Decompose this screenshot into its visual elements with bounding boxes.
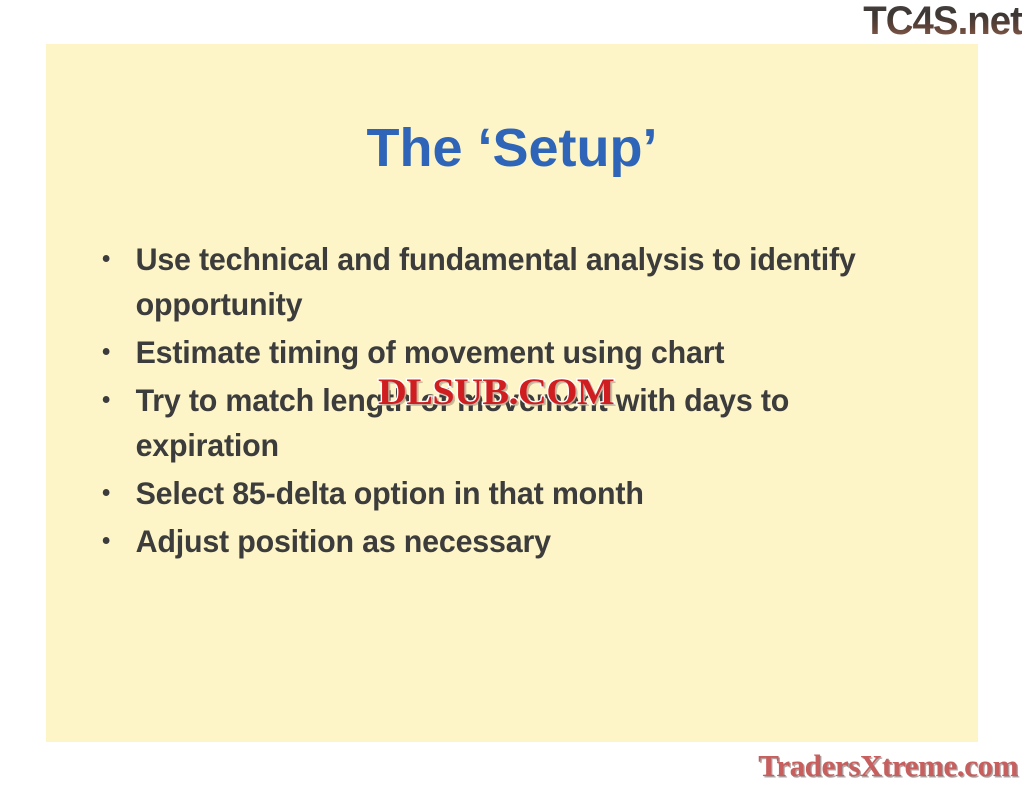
slide-panel: The ‘Setup’ Use technical and fundamenta… (46, 44, 978, 742)
bullet-dot-icon (103, 537, 110, 544)
bullet-item-label: Use technical and fundamental analysis t… (136, 237, 922, 327)
bullet-item: Select 85-delta option in that month (96, 471, 921, 516)
bullet-item-label: Estimate timing of movement using chart (136, 330, 922, 375)
bullet-item: Estimate timing of movement using chart (96, 330, 921, 375)
bullet-dot-icon (103, 255, 110, 262)
footer-watermark: TradersXtreme.com (700, 748, 1018, 784)
overlay-watermark-label: DLSUB.COM (378, 372, 614, 413)
slide-title: The ‘Setup’ (46, 119, 978, 177)
bullet-item: Adjust position as necessary (96, 519, 921, 564)
bullet-item-label: Adjust position as necessary (136, 519, 922, 564)
bullet-item-label: Select 85-delta option in that month (136, 471, 922, 516)
bullet-dot-icon (103, 396, 110, 403)
site-logo: TC4S.net (832, 0, 1022, 44)
overlay-watermark: DLSUB.COM (378, 374, 614, 411)
bullet-item: Use technical and fundamental analysis t… (96, 237, 921, 327)
bullet-dot-icon (103, 489, 110, 496)
bullet-dot-icon (103, 348, 110, 355)
